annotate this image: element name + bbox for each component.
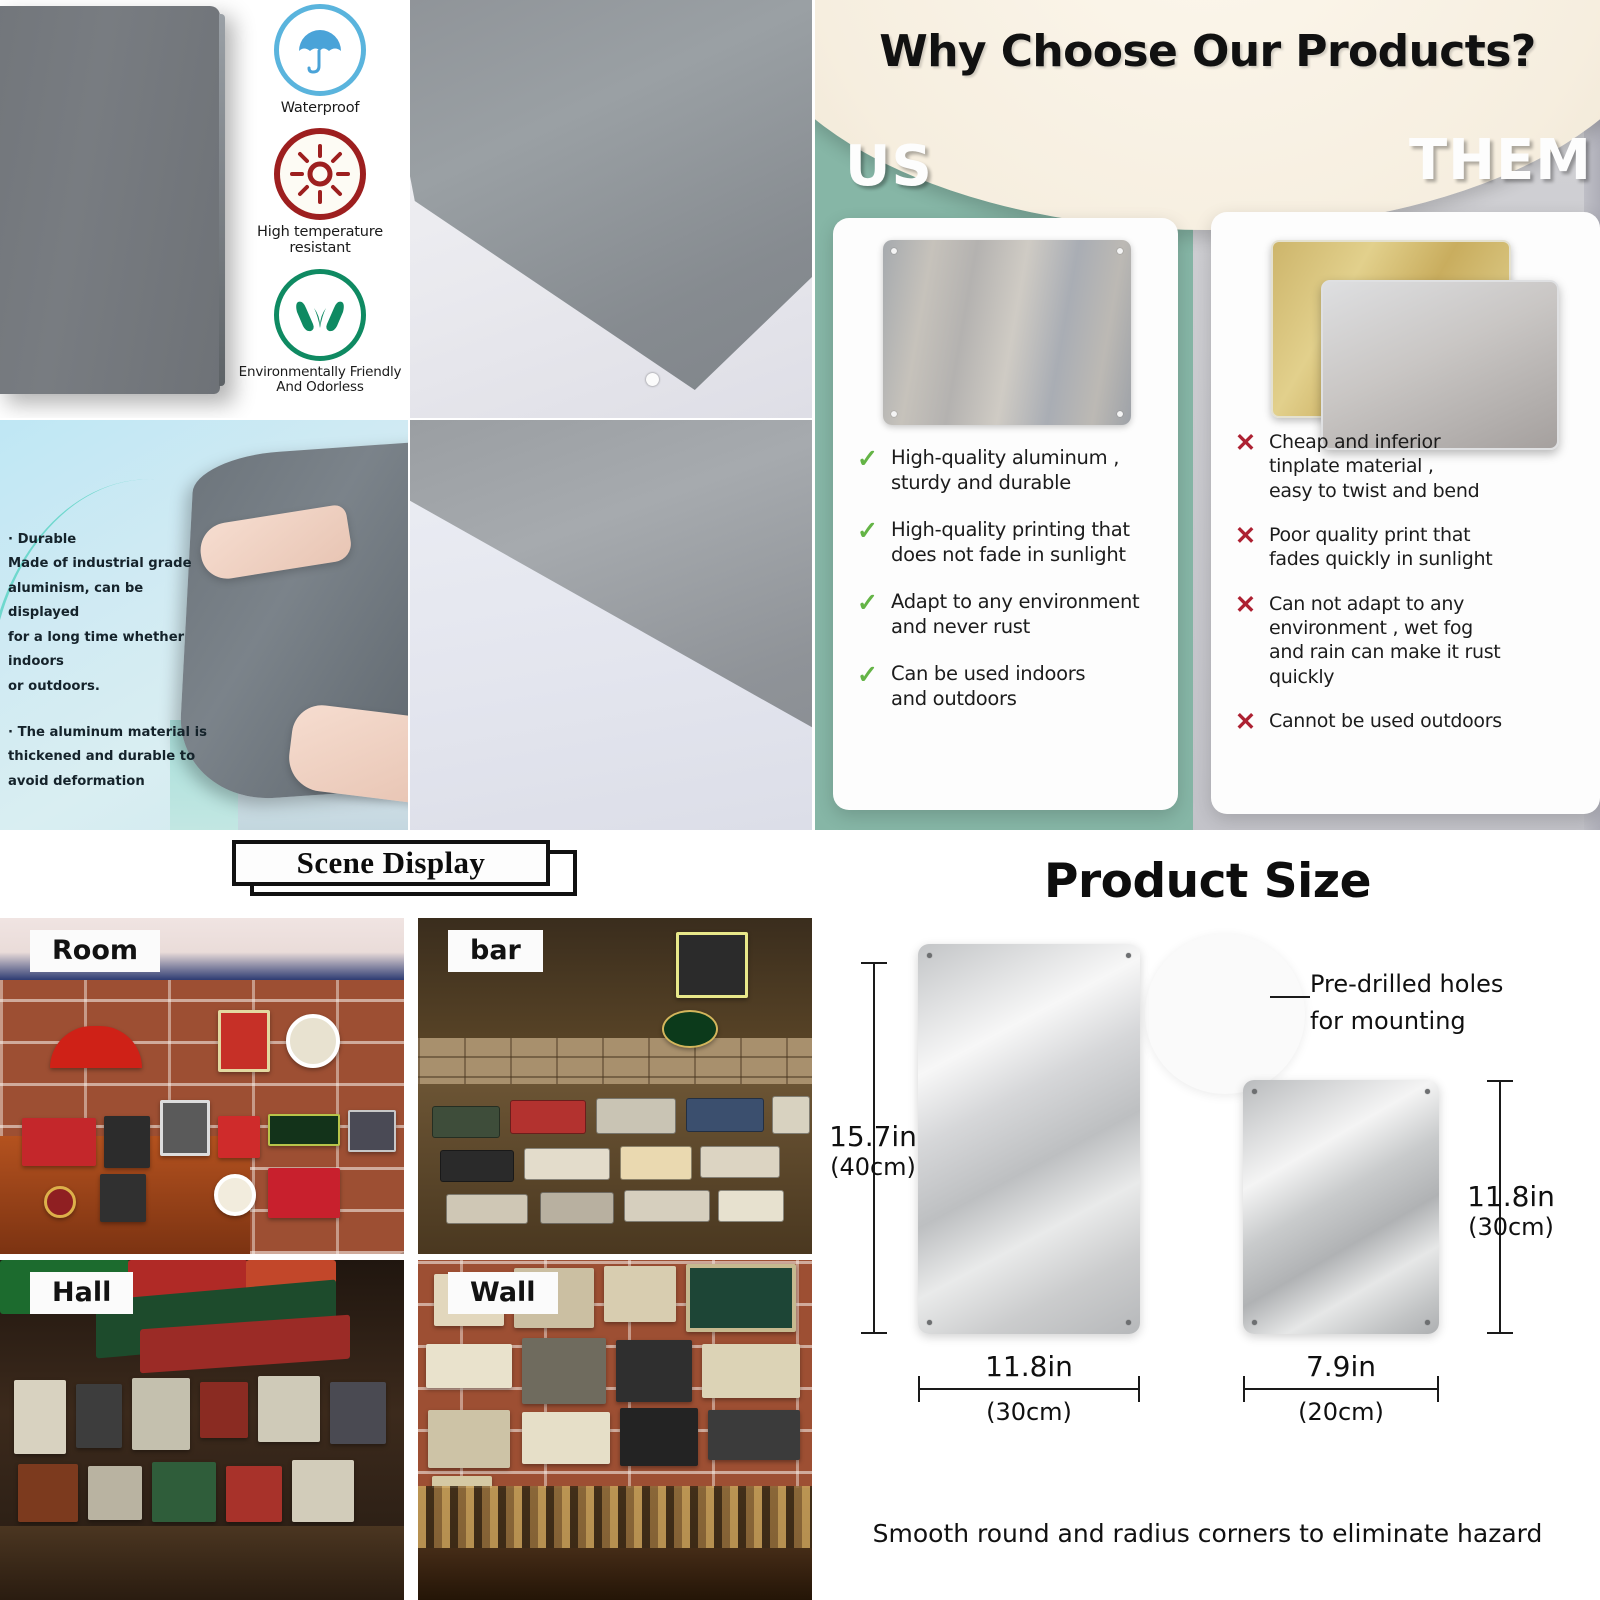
- dim-label-height-small: 11.8in (30cm): [1447, 1180, 1575, 1241]
- wall-sign: [428, 1410, 510, 1468]
- why-choose-title: Why Choose Our Products?: [815, 26, 1600, 77]
- wall-sign: [522, 1338, 606, 1404]
- dim-label-width-large: 11.8in: [945, 1350, 1113, 1383]
- license-plate: [718, 1190, 784, 1222]
- wall-sign: [214, 1174, 256, 1216]
- dim-value-in: 7.9in: [1257, 1350, 1425, 1383]
- wall-poster: [292, 1460, 354, 1522]
- scene-cell-hall: Hall: [0, 1260, 404, 1600]
- dim-label-width-large-cm: (30cm): [945, 1398, 1113, 1426]
- pro-item: ✓ High-quality aluminum , sturdy and dur…: [857, 446, 1164, 496]
- wall-sign: [218, 1116, 260, 1158]
- dim-cap: [1487, 1080, 1513, 1082]
- durability-copy: · Durable Made of industrial grade alumi…: [8, 528, 208, 794]
- check-icon: ✓: [857, 662, 891, 688]
- wall-poster: [132, 1378, 190, 1450]
- product-size-footer: Smooth round and radius corners to elimi…: [815, 1519, 1600, 1548]
- neon-sign: [676, 932, 748, 998]
- scene-display-header: Scene Display: [232, 840, 577, 896]
- license-plate: [432, 1106, 500, 1138]
- check-icon: ✓: [857, 446, 891, 472]
- hole-icon: [1117, 411, 1123, 417]
- hall-floor: [0, 1526, 404, 1600]
- dim-cap: [861, 962, 887, 964]
- dim-cap: [1243, 1376, 1245, 1402]
- metal-sheet-image: [410, 0, 812, 390]
- wall-sign-noworking: [426, 1344, 512, 1388]
- wall-sign: [100, 1174, 146, 1222]
- hole-icon: [1252, 1089, 1257, 1094]
- dim-line-width-large: [918, 1388, 1140, 1390]
- hole-icon: [927, 953, 932, 958]
- pro-item: ✓ Can be used indoors and outdoors: [857, 662, 1164, 712]
- dim-cap: [1437, 1376, 1439, 1402]
- large-sign-image: [918, 944, 1140, 1334]
- scene-cell-wall: Wall: [418, 1260, 812, 1600]
- product-infographic: Waterproof: [0, 0, 1600, 1600]
- license-plate: [440, 1150, 514, 1182]
- small-sign-image: [1243, 1080, 1439, 1334]
- wall-poster: [18, 1464, 78, 1522]
- license-plate: [620, 1146, 692, 1180]
- wall-poster: [88, 1466, 142, 1520]
- tinplate-grey-sheet: [1321, 280, 1559, 450]
- check-icon: ✓: [857, 518, 891, 544]
- feature-label: High temperature resistant: [232, 224, 408, 256]
- scene-cell-room: Room: [0, 918, 404, 1254]
- con-text: Cannot be used outdoors: [1269, 709, 1502, 733]
- dim-cap: [861, 1332, 887, 1334]
- callout-leader-line: [1270, 996, 1310, 998]
- license-plate: [540, 1192, 614, 1224]
- product-size-section: Product Size Pre-drilled holes for mount…: [815, 832, 1600, 1600]
- scene-cell-bar: bar: [418, 918, 812, 1254]
- them-product-image: [1253, 232, 1558, 427]
- us-product-image: [883, 240, 1131, 425]
- wall-poster: [226, 1466, 282, 1522]
- scene-tag-room: Room: [30, 930, 160, 972]
- mounting-hole-icon: [646, 373, 659, 386]
- sun-icon: [274, 128, 366, 220]
- guinness-sign: [662, 1010, 718, 1048]
- hole-icon: [927, 1320, 932, 1325]
- con-item: ✕ Cannot be used outdoors: [1235, 709, 1586, 735]
- hole-icon: [1126, 953, 1131, 958]
- dim-value-cm: (30cm): [1447, 1213, 1575, 1241]
- scene-tag-hall: Hall: [30, 1272, 133, 1314]
- hole-icon: [891, 248, 897, 254]
- wall-poster: [14, 1380, 66, 1454]
- hole-icon: [1425, 1089, 1430, 1094]
- wall-poster: [330, 1382, 386, 1444]
- wall-sign: [22, 1118, 96, 1166]
- con-text: Can not adapt to any environment , wet f…: [1269, 592, 1500, 689]
- wall-sign: [218, 1010, 270, 1072]
- us-card: ✓ High-quality aluminum , sturdy and dur…: [833, 218, 1178, 810]
- highlight-circle: [1145, 934, 1305, 1094]
- feature-label: Environmentally Friendly And Odorless: [232, 365, 408, 395]
- dim-cap: [1487, 1332, 1513, 1334]
- wall-poster: [76, 1384, 122, 1448]
- predrilled-holes-callout: Pre-drilled holes for mounting: [1310, 966, 1550, 1040]
- wall-sign: [522, 1412, 610, 1464]
- wall-sign-live: [708, 1410, 800, 1460]
- hole-icon: [891, 411, 897, 417]
- wall-poster: [200, 1382, 248, 1438]
- dim-value-cm: (20cm): [1257, 1398, 1425, 1426]
- dim-value-cm: (30cm): [945, 1398, 1113, 1426]
- us-pros-list: ✓ High-quality aluminum , sturdy and dur…: [857, 446, 1164, 734]
- con-text: Poor quality print that fades quickly in…: [1269, 523, 1492, 572]
- pro-text: Can be used indoors and outdoors: [891, 662, 1085, 712]
- scene-tag-bar: bar: [448, 930, 543, 972]
- wall-sign: [104, 1116, 150, 1168]
- bottle-row-image: [418, 1486, 812, 1548]
- dim-value-in: 15.7in: [809, 1120, 937, 1153]
- pro-item: ✓ Adapt to any environment and never rus…: [857, 590, 1164, 640]
- wall-poster: [258, 1376, 320, 1442]
- hole-icon: [1425, 1320, 1430, 1325]
- cross-icon: ✕: [1235, 592, 1269, 618]
- feature-waterproof: Waterproof: [232, 4, 408, 116]
- scene-tag-wall: Wall: [448, 1272, 558, 1314]
- con-item: ✕ Poor quality print that fades quickly …: [1235, 523, 1586, 572]
- wall-sign-beerthirty: [620, 1408, 698, 1466]
- pro-text: High-quality aluminum , sturdy and durab…: [891, 446, 1119, 496]
- dim-label-width-small: 7.9in: [1257, 1350, 1425, 1383]
- wall-sign: [604, 1266, 676, 1322]
- wall-sign: [616, 1340, 692, 1402]
- wall-sign: [286, 1014, 340, 1068]
- hands-plant-icon: [274, 269, 366, 361]
- why-choose-section: Why Choose Our Products? US THEM ✓ High-…: [815, 0, 1600, 830]
- dim-value-in: 11.8in: [945, 1350, 1113, 1383]
- panel-plate-features: Waterproof: [0, 0, 408, 418]
- cross-icon: ✕: [1235, 430, 1269, 456]
- hole-icon: [1126, 1320, 1131, 1325]
- cross-icon: ✕: [1235, 523, 1269, 549]
- license-plate: [772, 1096, 810, 1134]
- them-label: THEM: [1409, 128, 1592, 193]
- wall-sign: [160, 1100, 210, 1156]
- license-plate: [700, 1146, 780, 1178]
- hole-icon: [1252, 1320, 1257, 1325]
- wall-sign: [44, 1186, 76, 1218]
- feature-eco-friendly: Environmentally Friendly And Odorless: [232, 269, 408, 395]
- wall-sign-vod120: [268, 1114, 340, 1146]
- them-card: ✕ Cheap and inferior tinplate material ,…: [1211, 212, 1600, 814]
- wall-sign: [348, 1110, 396, 1152]
- license-plate: [510, 1100, 586, 1134]
- license-plate: [686, 1098, 764, 1132]
- feature-label: Waterproof: [281, 100, 360, 116]
- dim-value-in: 11.8in: [1447, 1180, 1575, 1213]
- cross-icon: ✕: [1235, 709, 1269, 735]
- panel-diagonal-sheet-photo: [410, 420, 812, 830]
- product-size-title: Product Size: [815, 854, 1600, 909]
- license-plate: [596, 1098, 676, 1134]
- panel-metal-corner-photo: [410, 0, 812, 418]
- con-item: ✕ Can not adapt to any environment , wet…: [1235, 592, 1586, 689]
- wall-sign-hudsons: [686, 1264, 796, 1332]
- scene-photo-grid: Room bar: [0, 918, 812, 1600]
- us-label: US: [845, 134, 933, 199]
- license-plate: [624, 1190, 710, 1222]
- feature-high-temperature: High temperature resistant: [232, 128, 408, 256]
- scene-title-frame-front: Scene Display: [232, 840, 550, 886]
- pro-text: Adapt to any environment and never rust: [891, 590, 1139, 640]
- panel-flexibility-demo: · Durable Made of industrial grade alumi…: [0, 420, 408, 830]
- con-item: ✕ Cheap and inferior tinplate material ,…: [1235, 430, 1586, 503]
- them-cons-list: ✕ Cheap and inferior tinplate material ,…: [1235, 430, 1586, 755]
- durability-paragraph-2: · The aluminum material is thickened and…: [8, 721, 208, 794]
- durability-paragraph-1: · Durable Made of industrial grade alumi…: [8, 528, 208, 699]
- pro-text: High-quality printing that does not fade…: [891, 518, 1130, 568]
- con-text: Cheap and inferior tinplate material , e…: [1269, 430, 1479, 503]
- dim-cap: [1138, 1376, 1140, 1402]
- dim-cap: [918, 1376, 920, 1402]
- wall-sign-cocacola: [268, 1168, 340, 1218]
- scene-display-title: Scene Display: [297, 845, 486, 881]
- hole-icon: [1117, 248, 1123, 254]
- wall-sign-welcome: [702, 1344, 800, 1398]
- license-plate: [524, 1148, 610, 1180]
- umbrella-icon: [274, 4, 366, 96]
- dim-label-width-small-cm: (20cm): [1257, 1398, 1425, 1426]
- aluminum-plate-image: [0, 6, 220, 394]
- feature-icon-list: Waterproof: [232, 4, 408, 416]
- wall-poster: [152, 1462, 216, 1522]
- pro-item: ✓ High-quality printing that does not fa…: [857, 518, 1164, 568]
- dim-line-width-small: [1243, 1388, 1439, 1390]
- license-plate: [446, 1194, 528, 1224]
- dim-label-height-large: 15.7in (40cm): [809, 1120, 937, 1181]
- diagonal-metal-image: [410, 420, 812, 830]
- check-icon: ✓: [857, 590, 891, 616]
- dim-value-cm: (40cm): [809, 1153, 937, 1181]
